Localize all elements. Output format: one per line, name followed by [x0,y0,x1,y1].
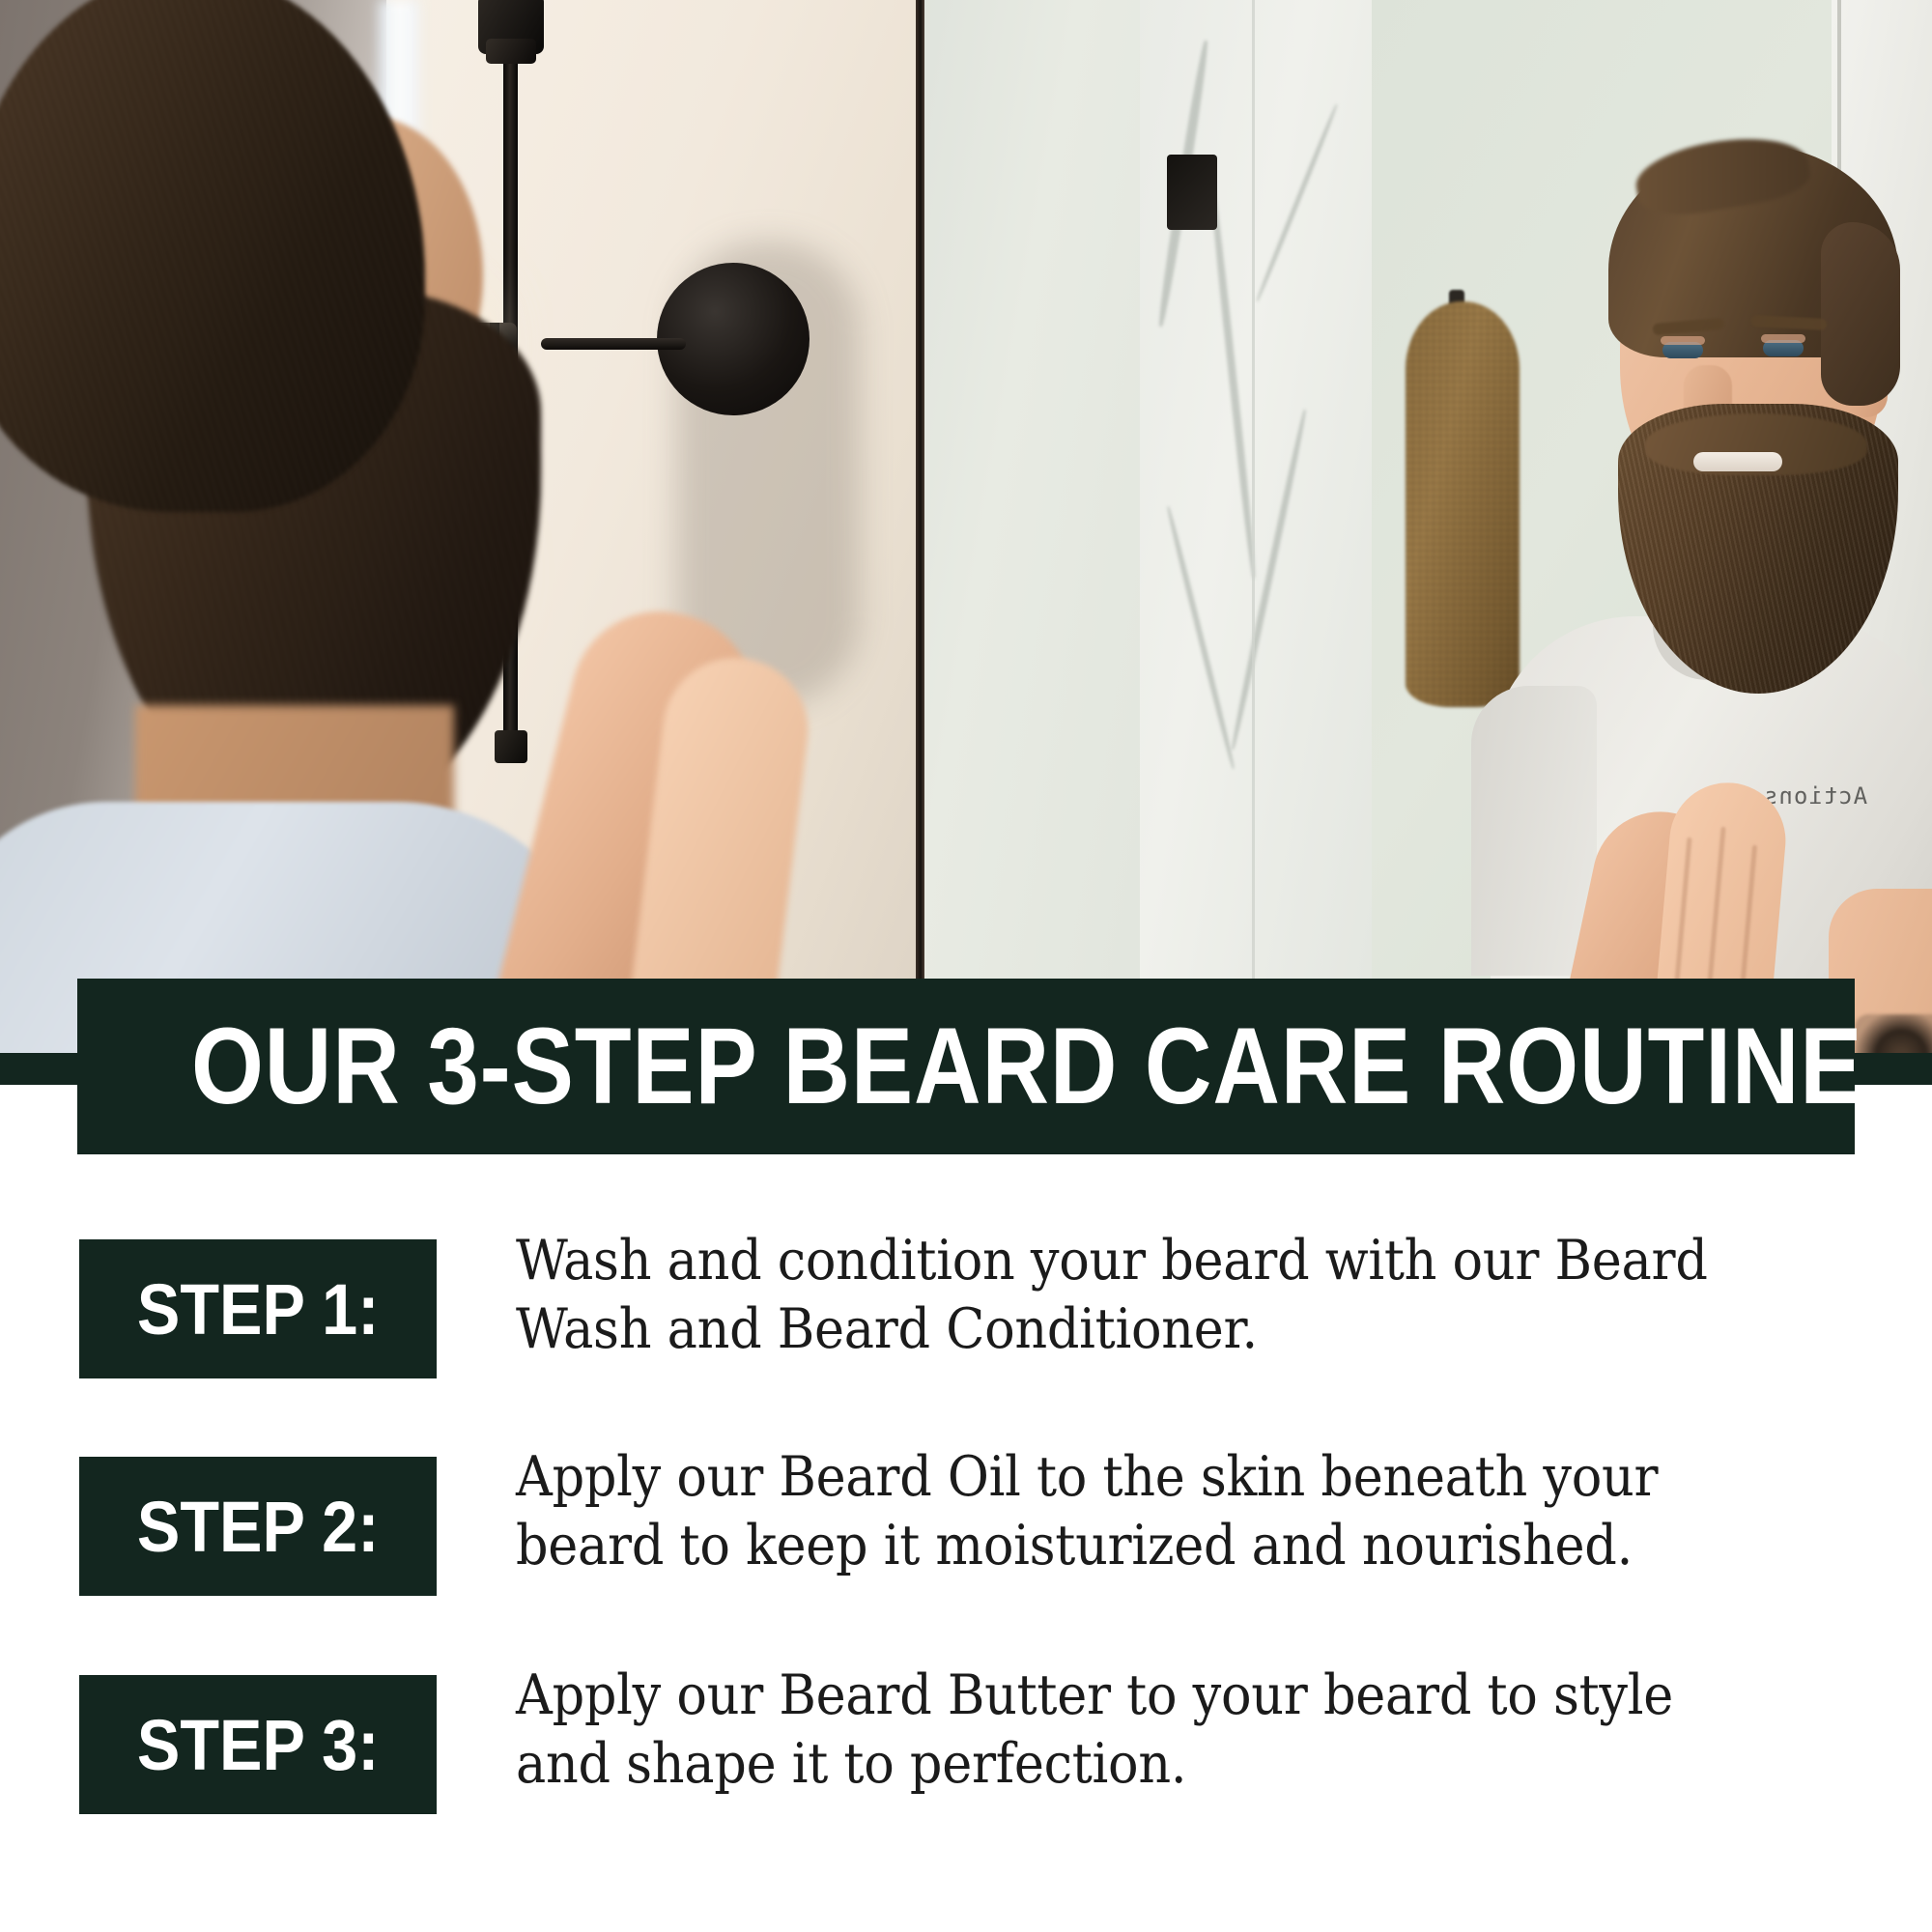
steps-list: STEP 1: Wash and condition your beard wi… [0,1207,1932,1874]
reflection-tshirt-sleeve [1471,686,1597,976]
step-3-description-wrap: Apply our Beard Butter to your beard to … [516,1662,1878,1798]
step-3-label: STEP 3: [137,1704,379,1786]
step-2-description-wrap: Apply our Beard Oil to the skin beneath … [516,1443,1878,1579]
reflection-arm-tattoo [1855,1014,1932,1055]
step-2-label: STEP 2: [137,1486,379,1568]
step-2-badge: STEP 2: [79,1457,437,1596]
step-3-description: Apply our Beard Butter to your beard to … [516,1662,1769,1798]
foreground-hair [0,0,425,512]
infographic-page: Actions [0,0,1932,1932]
step-row: STEP 2: Apply our Beard Oil to the skin … [0,1430,1932,1652]
step-3-badge: STEP 3: [79,1675,437,1814]
marble-seam [1252,0,1255,1053]
mirror-reflection-man: Actions [1473,145,1927,1055]
step-row: STEP 1: Wash and condition your beard wi… [0,1207,1932,1430]
hero-photo: Actions [0,0,1932,1055]
reflection-eyelid [1661,336,1705,345]
step-1-description-wrap: Wash and condition your beard with our B… [516,1227,1878,1363]
page-title-text: OUR 3-STEP BEARD CARE ROUTINE [191,1012,1862,1121]
black-wall-fixture-icon [1167,155,1217,230]
reflection-hair-side [1821,222,1900,406]
step-1-description: Wash and condition your beard with our B… [516,1227,1769,1363]
sconce-arm [541,338,686,350]
reflection-eyelid [1761,334,1805,343]
foreground-man [0,0,560,1055]
reflection-smile [1693,452,1782,471]
step-2-description: Apply our Beard Oil to the skin beneath … [516,1443,1769,1579]
page-title: OUR 3-STEP BEARD CARE ROUTINE [77,979,1855,1154]
tshirt-graphic-text: Actions [1763,782,1867,810]
step-1-label: STEP 1: [137,1268,379,1350]
mirror-frame-left [916,0,924,1055]
step-row: STEP 3: Apply our Beard Butter to your b… [0,1652,1932,1874]
step-1-badge: STEP 1: [79,1239,437,1378]
